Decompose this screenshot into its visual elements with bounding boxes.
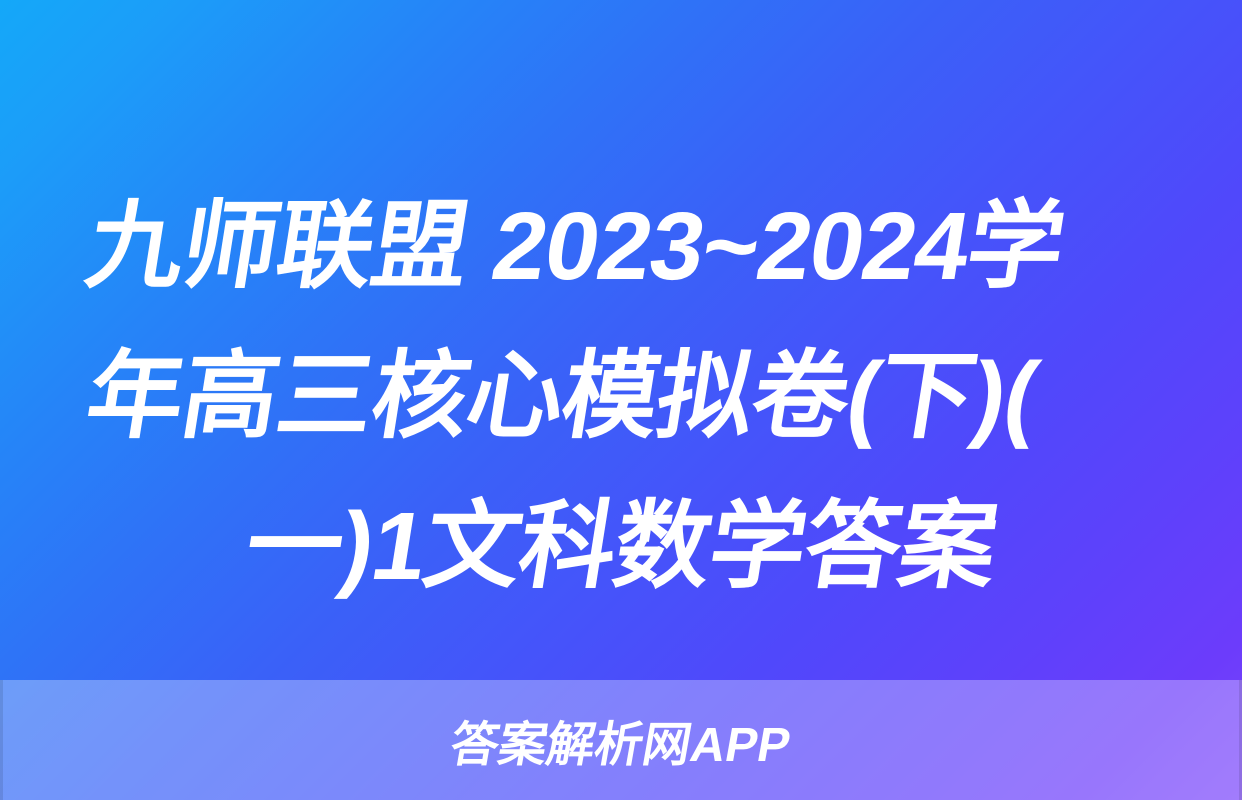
watermark-band: 答案解析网APP <box>0 680 1242 800</box>
title-line-2: 年高三核心模拟卷(下)( <box>76 322 1166 472</box>
poster-title-block: 九师联盟 2023~2024学 年高三核心模拟卷(下)( 一)1文科数学答案 <box>0 172 1242 622</box>
watermark-app-label: 答案解析网APP <box>445 705 796 775</box>
title-line-3: 一)1文科数学答案 <box>76 472 1166 622</box>
title-line-1: 九师联盟 2023~2024学 <box>76 172 1166 322</box>
poster-canvas: 九师联盟 2023~2024学 年高三核心模拟卷(下)( 一)1文科数学答案 答… <box>0 0 1242 800</box>
